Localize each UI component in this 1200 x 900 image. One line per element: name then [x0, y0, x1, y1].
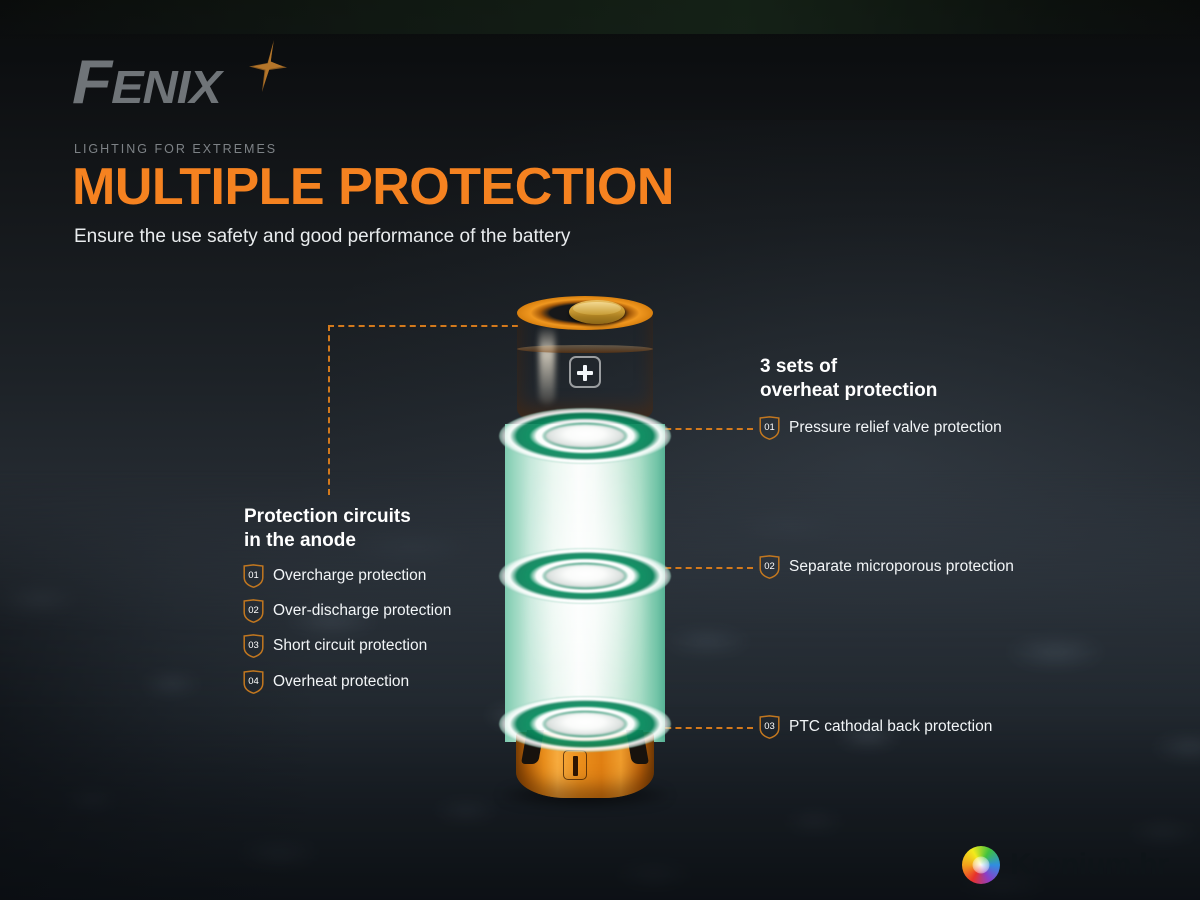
shield-badge-number: 03 [243, 634, 264, 658]
shield-badge-number: 01 [243, 564, 264, 588]
shield-badge-icon: 03 [243, 634, 264, 658]
list-item-label: Short circuit protection [273, 637, 427, 655]
battery-body [505, 424, 665, 742]
shield-badge-number: 04 [243, 670, 264, 694]
plus-icon [569, 356, 601, 388]
right-panel-heading: 3 sets of overheat protection [760, 355, 937, 403]
rainbow-orb-icon [962, 846, 1000, 884]
shield-badge-icon: 03 [759, 715, 780, 739]
list-item-label: Overcharge protection [273, 567, 426, 585]
shield-badge-icon: 04 [243, 670, 264, 694]
connector-right-2 [655, 567, 753, 569]
shield-badge-icon: 01 [243, 564, 264, 588]
page-title: MULTIPLE PROTECTION [72, 160, 674, 215]
fenix-wordmark-cap: F [72, 48, 111, 117]
battery-illustration [505, 296, 665, 806]
page-subtitle: Ensure the use safety and good performan… [74, 226, 570, 248]
fenix-tagline: LIGHTING FOR EXTREMES [74, 142, 277, 156]
list-item-right-3[interactable]: 03 PTC cathodal back protection [759, 715, 992, 739]
top-haze-band [0, 0, 1200, 34]
right-panel-heading-line1: 3 sets of [760, 355, 937, 379]
shield-badge-number: 02 [759, 555, 780, 579]
star-icon [247, 40, 289, 98]
battery-cap-seam [517, 345, 653, 353]
shield-badge-number: 03 [759, 715, 780, 739]
battery-terminal-icon [569, 300, 625, 324]
watermark-text: Kronium.hr [1010, 848, 1169, 882]
minus-icon [563, 750, 587, 780]
connector-left-horizontal [328, 325, 518, 327]
poster-canvas: FENIX LIGHTING FOR EXTREMES MULTIPLE PRO… [0, 0, 1200, 900]
list-item-left-3[interactable]: 03 Short circuit protection [243, 634, 427, 658]
left-panel-heading: Protection circuits in the anode [244, 505, 411, 553]
list-item-label: Pressure relief valve protection [789, 419, 1002, 437]
connector-left-vertical [328, 325, 330, 495]
shield-badge-icon: 01 [759, 416, 780, 440]
list-item-left-1[interactable]: 01 Overcharge protection [243, 564, 426, 588]
shield-badge-number: 02 [243, 599, 264, 623]
shield-badge-icon: 02 [243, 599, 264, 623]
fenix-logo: FENIX LIGHTING FOR EXTREMES [72, 42, 372, 122]
list-item-label: Over-discharge protection [273, 602, 451, 620]
list-item-label: PTC cathodal back protection [789, 718, 992, 736]
fenix-wordmark: FENIX [72, 52, 221, 114]
left-panel-heading-line1: Protection circuits [244, 505, 411, 529]
fenix-wordmark-rest: ENIX [111, 61, 221, 113]
shield-badge-icon: 02 [759, 555, 780, 579]
list-item-label: Overheat protection [273, 673, 409, 691]
left-panel-heading-line2: in the anode [244, 529, 411, 553]
list-item-right-2[interactable]: 02 Separate microporous protection [759, 555, 1014, 579]
battery-top-face [517, 296, 653, 330]
connector-right-3 [655, 727, 753, 729]
list-item-left-2[interactable]: 02 Over-discharge protection [243, 599, 451, 623]
list-item-label: Separate microporous protection [789, 558, 1014, 576]
list-item-right-1[interactable]: 01 Pressure relief valve protection [759, 416, 1002, 440]
connector-right-1 [655, 428, 753, 430]
watermark: Kronium.hr [962, 846, 1169, 884]
right-panel-heading-line2: overheat protection [760, 379, 937, 403]
shield-badge-number: 01 [759, 416, 780, 440]
list-item-left-4[interactable]: 04 Overheat protection [243, 670, 409, 694]
